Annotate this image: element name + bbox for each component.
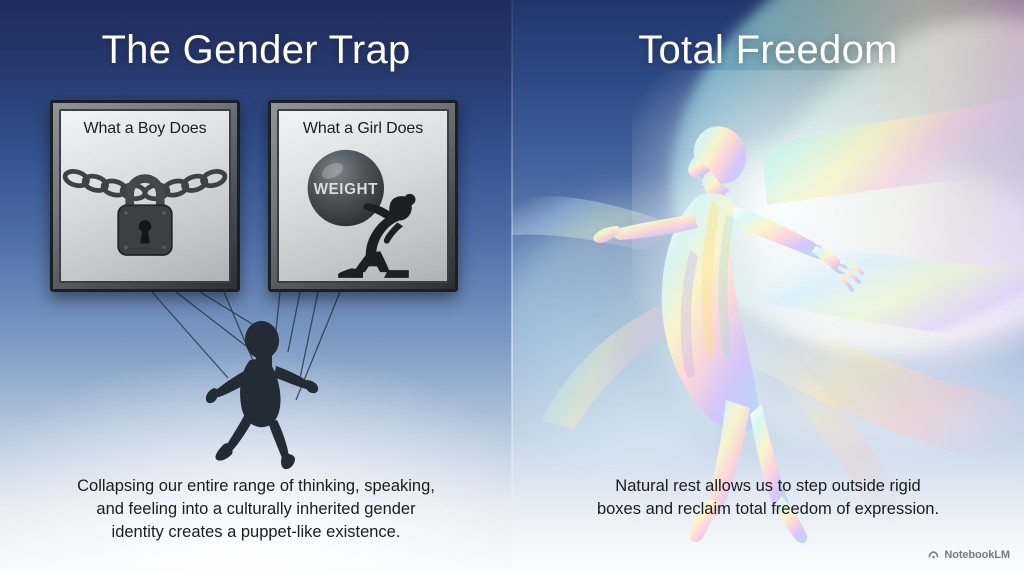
marionette-figure bbox=[206, 319, 318, 469]
frame-what-a-boy-does[interactable]: What a Boy Does bbox=[50, 100, 240, 292]
notebooklm-watermark-label: NotebookLM bbox=[944, 549, 1010, 561]
left-panel-gender-trap: The Gender Trap bbox=[0, 0, 512, 571]
right-caption: Natural rest allows us to step outside r… bbox=[512, 475, 1024, 521]
frame-what-a-girl-does[interactable]: What a Girl Does WEIGHT bbox=[268, 100, 458, 292]
left-caption-line-3: identity creates a puppet-like existence… bbox=[28, 521, 484, 544]
chain-links bbox=[63, 169, 226, 200]
infographic-canvas: The Gender Trap bbox=[0, 0, 1024, 571]
padlock-and-chain-icon bbox=[61, 141, 229, 281]
notebooklm-spark-icon bbox=[927, 548, 940, 561]
frame-label-girl: What a Girl Does bbox=[279, 120, 447, 138]
right-caption-line-1: Natural rest allows us to step outside r… bbox=[540, 475, 996, 498]
right-caption-line-2: boxes and reclaim total freedom of expre… bbox=[540, 498, 996, 521]
frame-inner-girl: What a Girl Does WEIGHT bbox=[277, 109, 449, 283]
left-caption: Collapsing our entire range of thinking,… bbox=[0, 475, 512, 544]
left-caption-line-2: and feeling into a culturally inherited … bbox=[28, 498, 484, 521]
right-panel-title: Total Freedom bbox=[512, 28, 1024, 73]
frame-inner-boy: What a Boy Does bbox=[59, 109, 231, 283]
frame-label-boy: What a Boy Does bbox=[61, 120, 229, 138]
weight-ball-label: WEIGHT bbox=[314, 181, 379, 198]
figure-carrying-weight-icon: WEIGHT bbox=[279, 141, 447, 281]
right-panel-total-freedom: Total Freedom Natural rest allows us to … bbox=[512, 0, 1024, 571]
notebooklm-watermark: NotebookLM bbox=[927, 548, 1010, 561]
left-caption-line-1: Collapsing our entire range of thinking,… bbox=[28, 475, 484, 498]
